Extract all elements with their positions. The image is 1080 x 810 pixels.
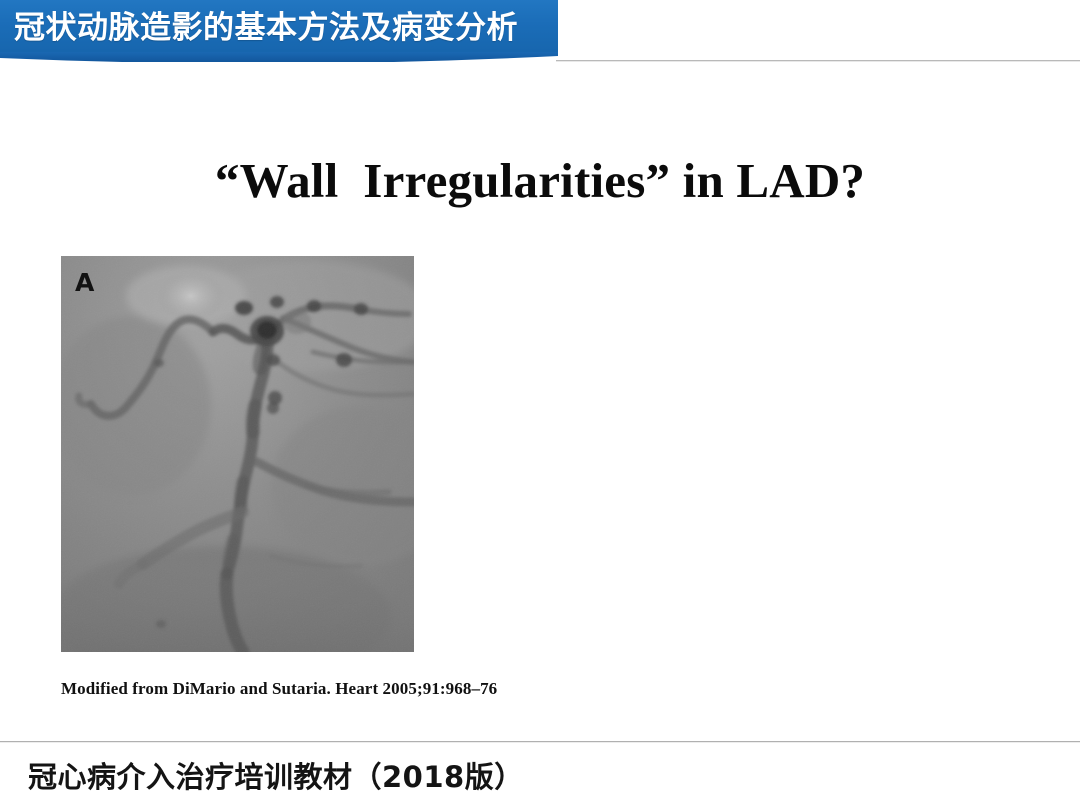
figure-citation: Modified from DiMario and Sutaria. Heart… <box>61 679 497 699</box>
angiogram-image <box>61 256 414 652</box>
slide-canvas: 冠状动脉造影的基本方法及病变分析 “Wall Irregularities” i… <box>0 0 1080 810</box>
header-divider-line <box>556 60 1080 62</box>
header-banner: 冠状动脉造影的基本方法及病变分析 <box>0 0 558 62</box>
header-banner-title: 冠状动脉造影的基本方法及病变分析 <box>14 5 554 51</box>
footer-divider-line <box>0 741 1080 743</box>
figure-panel-label: A <box>75 270 94 295</box>
page-title: “Wall Irregularities” in LAD? <box>0 152 1080 209</box>
angiogram-figure: A <box>61 256 414 652</box>
footer-label: 冠心病介入治疗培训教材（2018版） <box>28 754 524 796</box>
